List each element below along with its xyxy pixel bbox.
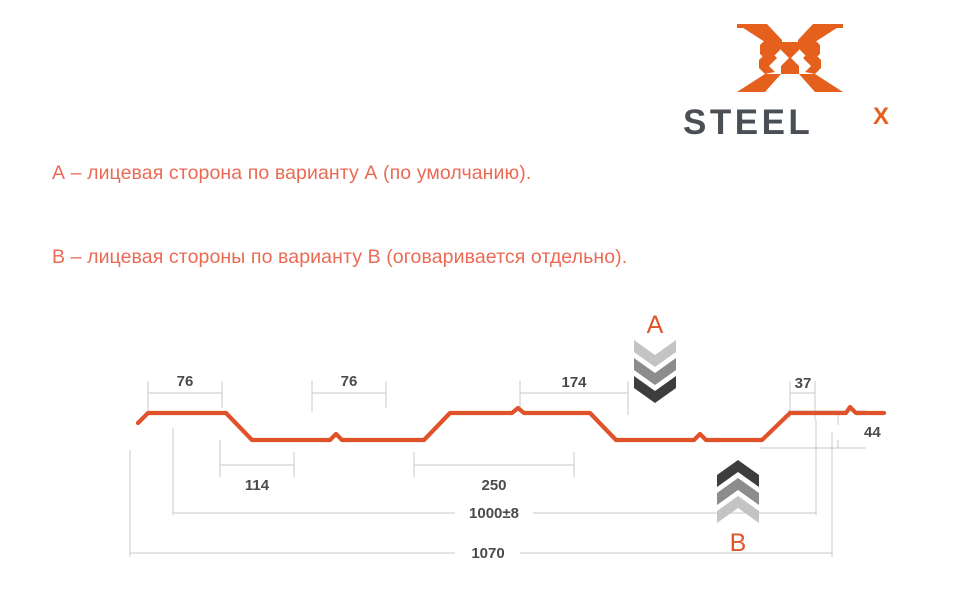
dim-label-250: 250 — [481, 477, 506, 494]
side-a-label: A — [647, 311, 664, 339]
corrugated-profile-path — [138, 407, 884, 440]
dim-label-174: 174 — [561, 374, 587, 391]
dim-label-37: 37 — [795, 375, 812, 392]
side-a-marker: A — [634, 311, 676, 403]
dim-label-1070: 1070 — [471, 545, 504, 562]
dim-label-114: 114 — [245, 477, 270, 494]
dim-label-76-left: 76 — [177, 373, 194, 390]
profile-technical-drawing: 76 76 114 250 174 37 44 1000±8 1070 A B — [0, 0, 970, 597]
dim-label-76-mid: 76 — [341, 373, 358, 390]
dim-label-44: 44 — [864, 424, 881, 441]
dimension-lines-group — [130, 381, 866, 557]
side-b-label: B — [730, 529, 747, 557]
side-b-marker: B — [717, 460, 759, 557]
dim-label-1000: 1000±8 — [469, 505, 519, 522]
